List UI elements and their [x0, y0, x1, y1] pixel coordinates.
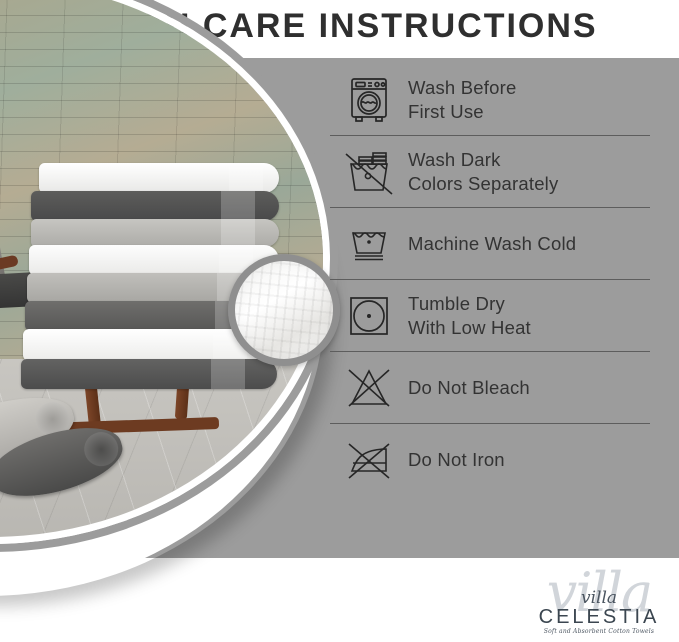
- logo-brand-text: CELESTIA: [524, 606, 674, 629]
- care-label: Do Not Bleach: [408, 376, 530, 400]
- towel-texture-closeup: [235, 261, 333, 359]
- folded-towel: [39, 163, 279, 193]
- do-not-bleach-triangle-icon: [330, 365, 408, 411]
- care-row: Tumble Dry With Low Heat: [330, 280, 650, 352]
- care-label: Machine Wash Cold: [408, 232, 576, 256]
- care-row: Machine Wash Cold: [330, 208, 650, 280]
- machine-wash-cold-tub-icon: [330, 222, 408, 266]
- care-row: Wash Dark Colors Separately: [330, 136, 650, 208]
- care-label: Do Not Iron: [408, 448, 505, 472]
- care-label: Wash Dark Colors Separately: [408, 148, 558, 195]
- logo-tagline: Soft and Absorbent Cotton Towels: [524, 628, 674, 635]
- towel-band: [221, 191, 255, 221]
- washing-machine-icon: [330, 76, 408, 124]
- care-instruction-list: Wash Before First Use Wash Dark Colors S…: [330, 58, 650, 558]
- magnifier-circle: [228, 254, 340, 366]
- tumble-dry-low-heat-icon: [330, 293, 408, 339]
- towel-band: [229, 163, 263, 193]
- care-row: Do Not Bleach: [330, 352, 650, 424]
- towel-band: [221, 219, 255, 247]
- folded-towel: [21, 359, 277, 389]
- logo-villa-text: villa: [524, 588, 674, 608]
- folded-towel: [31, 191, 279, 221]
- folded-towel: [31, 219, 279, 247]
- no-mixed-colors-wash-basin-icon: [330, 148, 408, 196]
- brand-logo: villa villa CELESTIA Soft and Absorbent …: [524, 566, 674, 640]
- care-label: Tumble Dry With Low Heat: [408, 292, 531, 339]
- care-row: Do Not Iron: [330, 424, 650, 495]
- towel-band: [211, 359, 245, 389]
- care-label: Wash Before First Use: [408, 76, 516, 123]
- care-row: Wash Before First Use: [330, 64, 650, 136]
- do-not-iron-icon: [330, 437, 408, 483]
